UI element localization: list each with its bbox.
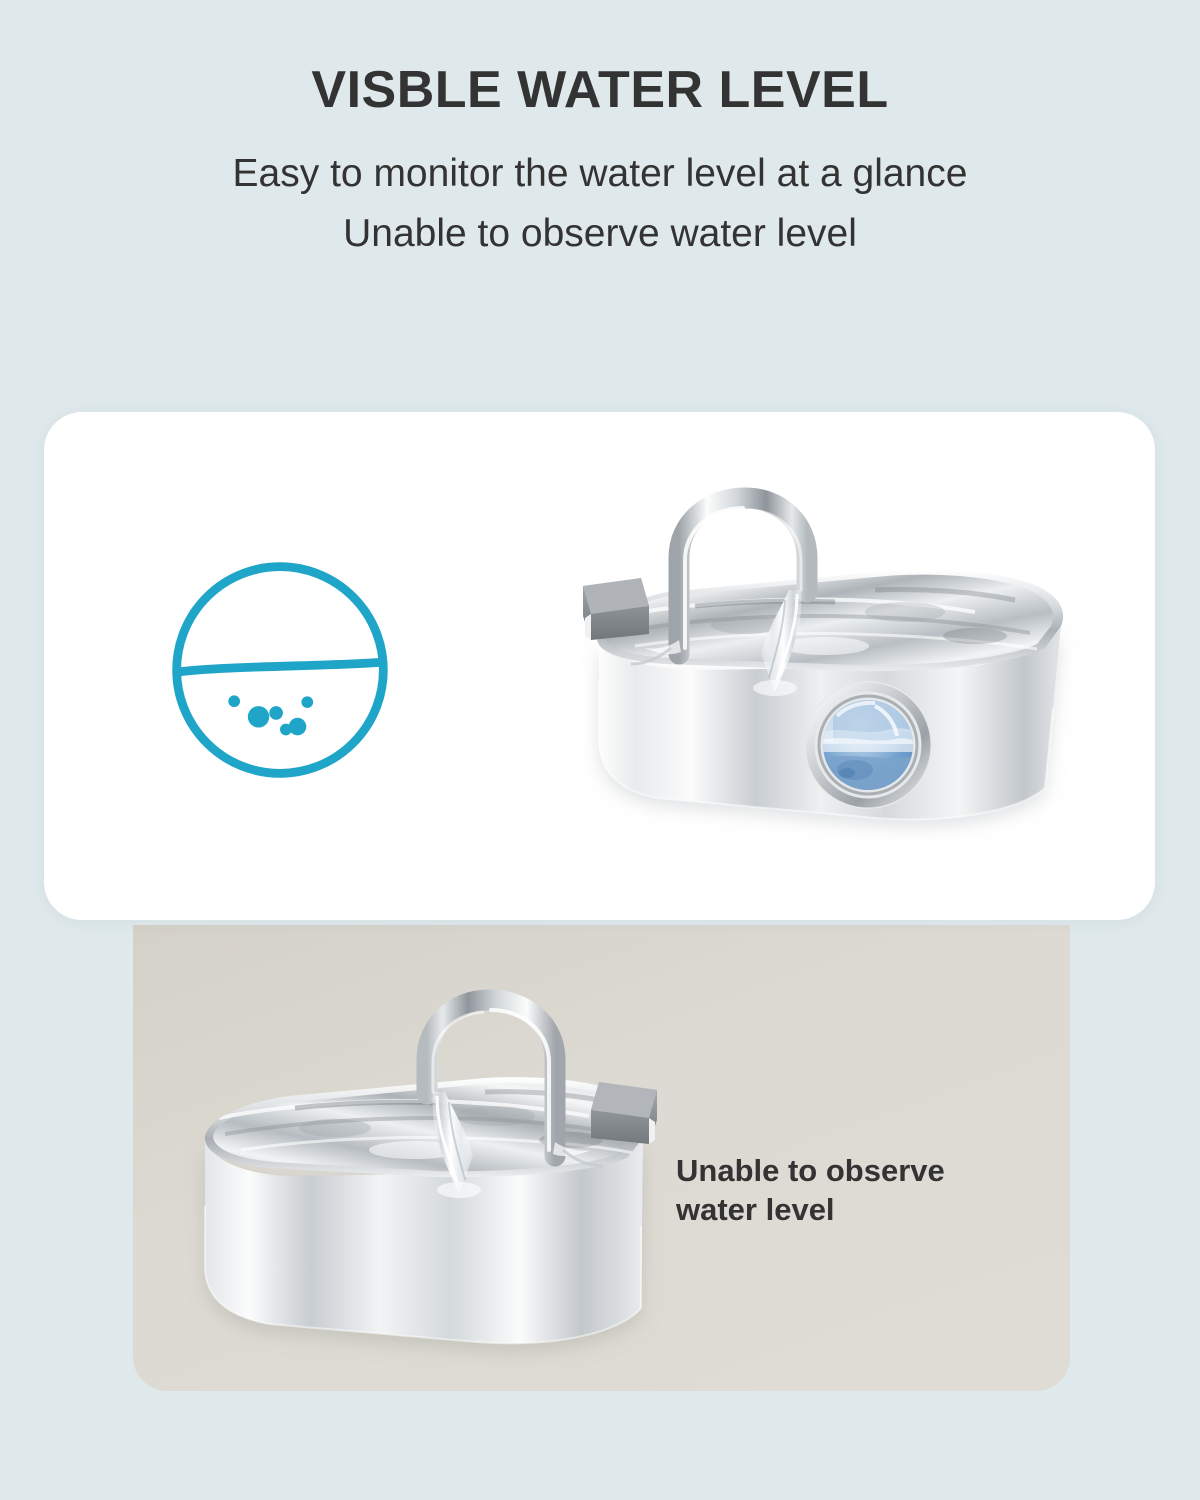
subtitle-line-1: Easy to monitor the water level at a gla…: [0, 152, 1200, 197]
page-title: VISBLE WATER LEVEL: [0, 63, 1200, 118]
caption-line-1: Unable to observe: [676, 1152, 1056, 1191]
water-level-circle-icon: [163, 553, 397, 787]
bad-panel-caption: Unable to observe water level: [676, 1152, 1056, 1230]
product-fountain-with-window: [575, 440, 1085, 900]
subtitle-line-2: Unable to observe water level: [0, 212, 1200, 257]
header: VISBLE WATER LEVEL Easy to monitor the w…: [0, 0, 1200, 300]
caption-line-2: water level: [676, 1191, 1056, 1230]
product-fountain-no-window: [185, 950, 665, 1370]
